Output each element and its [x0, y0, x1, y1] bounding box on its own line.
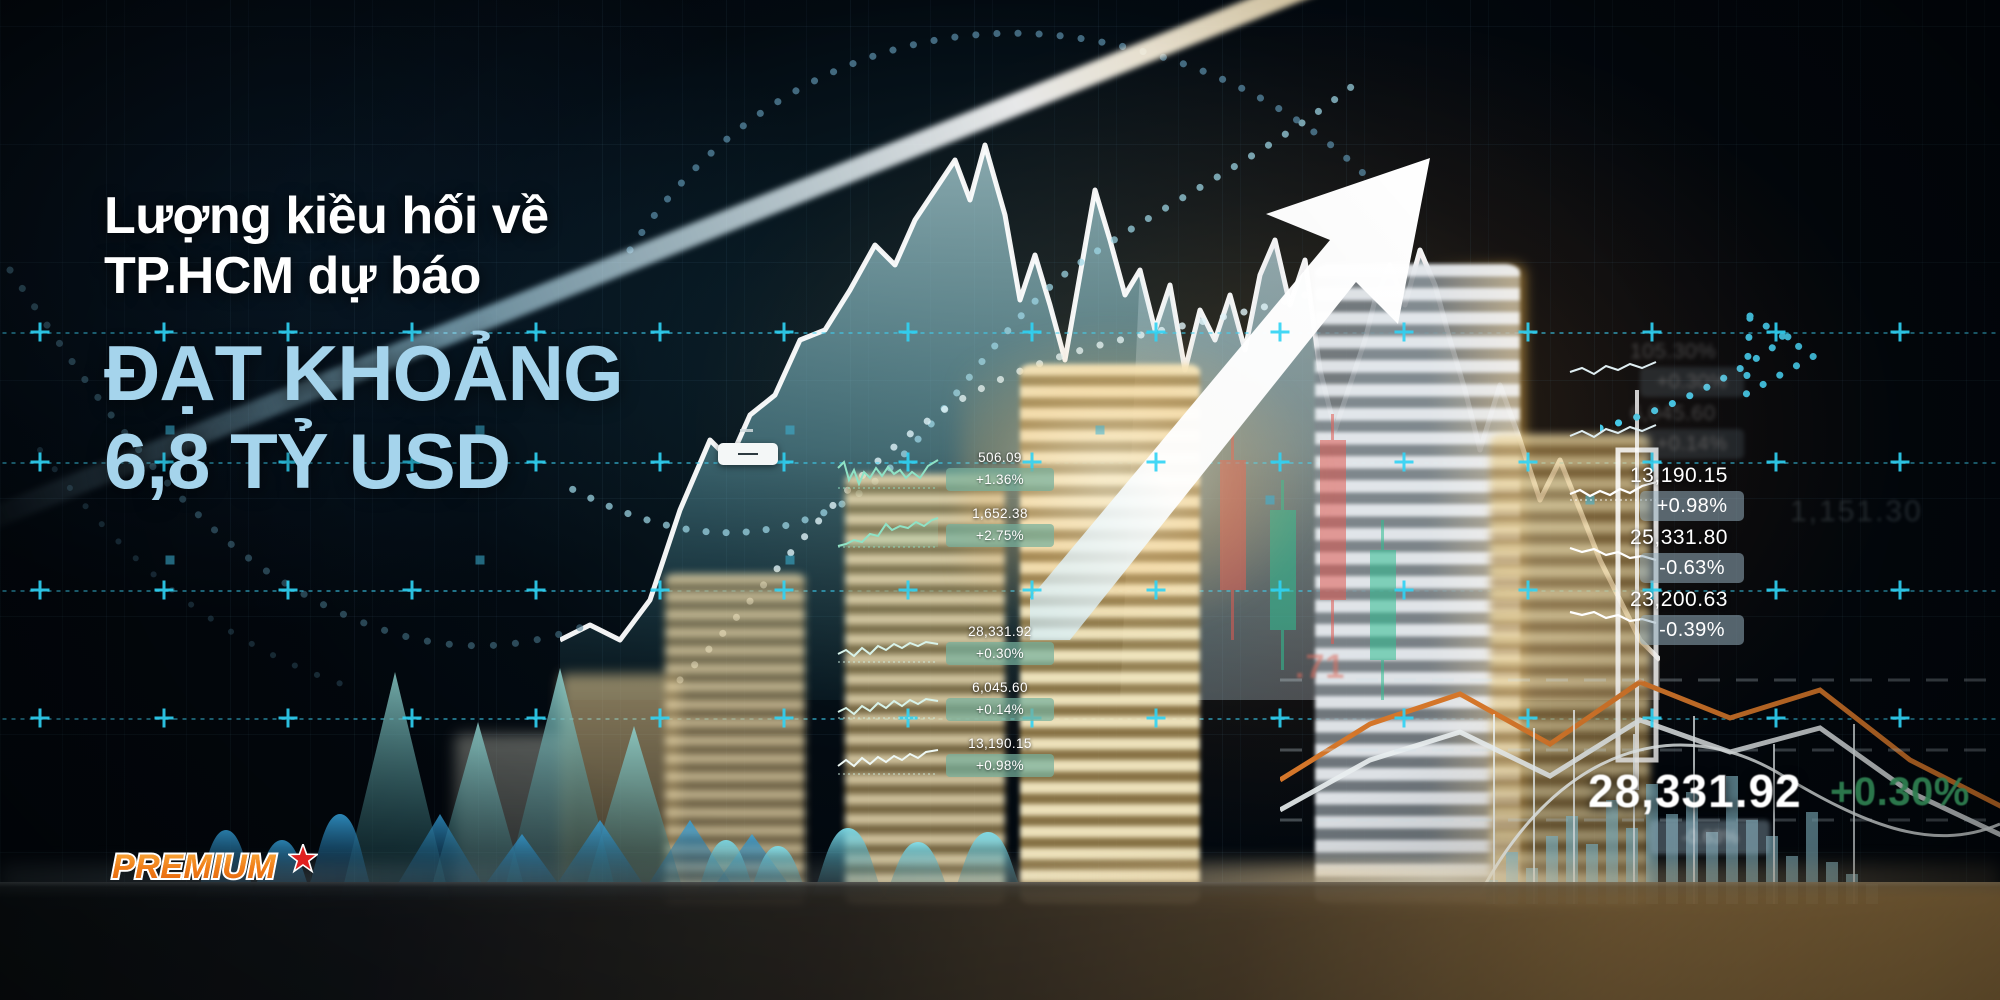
quote-row: 13,190.15 +0.98% [836, 738, 1056, 794]
quote-change-badge: +0.30% [1640, 367, 1744, 397]
crosshair-icon [1519, 323, 1538, 342]
crosshair-icon [31, 453, 50, 472]
sparkline [836, 514, 940, 550]
grid-node [1266, 496, 1275, 505]
quote-change-badge: +1.36% [946, 468, 1054, 491]
quote-value: 23,200.63 [1630, 588, 1728, 612]
crosshair-icon [775, 709, 794, 728]
title-line-2: 6,8 TỶ USD [104, 417, 824, 505]
quote-row: 23,200.63 -0.39% [1630, 588, 1870, 650]
crosshair-icon [403, 709, 422, 728]
crosshair-icon [651, 709, 670, 728]
crosshair-icon [1395, 453, 1414, 472]
crosshair-icon [1643, 323, 1662, 342]
quote-row: 6,045.60 +0.14% [1630, 402, 1870, 464]
crosshair-icon [31, 709, 50, 728]
faint-quote-ghost: 1,151.30 [1790, 495, 1923, 529]
crosshair-icon [527, 581, 546, 600]
quote-change-badge: +2.75% [946, 524, 1054, 547]
quote-value: 506.09 [944, 450, 1056, 465]
quote-change-badge: +0.98% [1640, 491, 1744, 521]
crosshair-icon [155, 581, 174, 600]
crosshair-icon [1271, 453, 1290, 472]
headline-kicker: Lượng kiều hối về TP.HCM dự báo [104, 186, 824, 307]
quote-row: 105.30% +0.30% [1630, 340, 1870, 402]
quote-list-center: 506.09 +1.36% 1,652.38 +2.75% 28,331.92 … [836, 452, 1056, 794]
sparkline [836, 458, 940, 494]
neutral-indicator-pill[interactable] [718, 443, 778, 465]
crosshair-icon [651, 581, 670, 600]
quote-value: 6,045.60 [1630, 402, 1716, 426]
crosshair-icon [1395, 709, 1414, 728]
title-line-1: ĐẠT KHOẢNG [104, 329, 824, 417]
grid-node [166, 556, 175, 565]
crosshair-icon [1519, 581, 1538, 600]
pill-dash-mark [740, 429, 753, 432]
premium-logo[interactable]: PREMIUM PREMIUM [112, 846, 322, 898]
quote-row: 28,331.92 +0.30% [836, 626, 1056, 682]
sparkline [836, 688, 940, 724]
sparkline [836, 744, 940, 780]
quote-row: 6,045.60 +0.14% [836, 682, 1056, 738]
quote-value: 6,045.60 [944, 680, 1056, 695]
crosshair-icon [1891, 709, 1910, 728]
headline-block: Lượng kiều hối về TP.HCM dự báo ĐẠT KHOẢ… [104, 186, 824, 505]
grid-node [476, 556, 485, 565]
crosshair-icon [1395, 581, 1414, 600]
crosshair-icon [775, 581, 794, 600]
crosshair-icon [403, 581, 422, 600]
star-icon [288, 844, 318, 874]
crosshair-icon [1395, 323, 1414, 342]
crosshair-icon [1767, 323, 1786, 342]
crosshair-icon [1767, 709, 1786, 728]
crosshair-icon [31, 323, 50, 342]
poster-canvas: .71 [0, 0, 2000, 1000]
crosshair-icon [279, 581, 298, 600]
crosshair-icon [1519, 453, 1538, 472]
quote-change-badge: +0.98% [946, 754, 1054, 777]
crosshair-icon [1271, 581, 1290, 600]
crosshair-icon [1643, 709, 1662, 728]
crosshair-icon [1271, 323, 1290, 342]
quote-change-badge: -0.63% [1640, 553, 1744, 583]
quote-change-badge: +0.14% [1640, 429, 1744, 459]
kicker-line-2: TP.HCM dự báo [104, 246, 824, 306]
crosshair-icon [1891, 323, 1910, 342]
crosshair-icon [1147, 453, 1166, 472]
crosshair-icon [527, 709, 546, 728]
sparkline [836, 632, 940, 668]
quote-row: 506.09 +1.36% [836, 452, 1056, 508]
kicker-line-1: Lượng kiều hối về [104, 186, 824, 246]
quote-change-badge: +0.30% [946, 642, 1054, 665]
headline-title: ĐẠT KHOẢNG 6,8 TỶ USD [104, 329, 824, 505]
quote-row-spacer [836, 564, 1056, 626]
crosshair-icon [1147, 581, 1166, 600]
quote-value: 13,190.15 [1630, 464, 1728, 488]
crosshair-icon [1023, 323, 1042, 342]
crosshair-icon [1147, 323, 1166, 342]
featured-quote-badge: -0.63% [1650, 820, 1770, 854]
crosshair-icon [1519, 709, 1538, 728]
premium-logo-text: PREMIUM [112, 848, 276, 887]
quote-change-badge: +0.14% [946, 698, 1054, 721]
quote-value: 1,652.38 [944, 506, 1056, 521]
quote-change-badge: -0.39% [1640, 615, 1744, 645]
grid-node [786, 556, 795, 565]
crosshair-icon [279, 709, 298, 728]
quote-value: 25,331.80 [1630, 526, 1728, 550]
quote-value: 28,331.92 [944, 624, 1056, 639]
crosshair-icon [1147, 709, 1166, 728]
quote-row: 1,652.38 +2.75% [836, 508, 1056, 564]
crosshair-icon [1891, 453, 1910, 472]
quote-value: 105.30% [1630, 340, 1716, 364]
quote-value: 13,190.15 [944, 736, 1056, 751]
quote-row: 25,331.80 -0.63% [1630, 526, 1870, 588]
crosshair-icon [899, 323, 918, 342]
crosshair-icon [1891, 581, 1910, 600]
crosshair-icon [31, 581, 50, 600]
crosshair-icon [155, 709, 174, 728]
crosshair-icon [1271, 709, 1290, 728]
grid-node [1096, 426, 1105, 435]
featured-quote-change: +0.30% [1830, 770, 1970, 815]
